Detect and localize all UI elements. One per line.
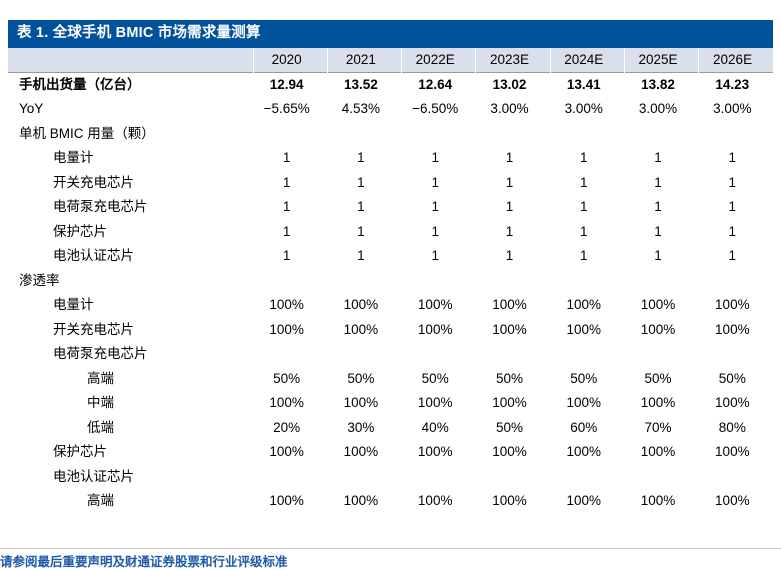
cell-value: 70% xyxy=(624,416,698,441)
cell-value: 1 xyxy=(327,244,401,269)
cell-value: 1 xyxy=(253,171,327,196)
cell-value: 100% xyxy=(327,293,401,318)
cell-value: 1 xyxy=(327,146,401,171)
cell-value: 20% xyxy=(253,416,327,441)
row-label: 电荷泵充电芯片 xyxy=(8,195,253,220)
cell-value xyxy=(476,342,550,367)
cell-value: 50% xyxy=(476,416,550,441)
cell-value: 1 xyxy=(253,220,327,245)
cell-value: 1 xyxy=(699,146,773,171)
table-row: 电池认证芯片1111111 xyxy=(8,244,773,269)
footer-divider xyxy=(0,548,781,549)
table-row: 单机 BMIC 用量（颗） xyxy=(8,122,773,147)
cell-value: 100% xyxy=(253,489,327,514)
row-label: 开关充电芯片 xyxy=(8,318,253,343)
cell-value xyxy=(253,465,327,490)
cell-value: 50% xyxy=(476,367,550,392)
row-label: 高端 xyxy=(8,367,253,392)
table-row: YoY−5.65%4.53%−6.50%3.00%3.00%3.00%3.00% xyxy=(8,97,773,122)
cell-value: 100% xyxy=(624,391,698,416)
cell-value: 3.00% xyxy=(476,97,550,122)
cell-value: 4.53% xyxy=(327,97,401,122)
cell-value: 100% xyxy=(476,489,550,514)
row-label: 高端 xyxy=(8,489,253,514)
cell-value: 100% xyxy=(402,489,476,514)
row-label: 电量计 xyxy=(8,146,253,171)
cell-value: 1 xyxy=(699,195,773,220)
cell-value: 1 xyxy=(624,220,698,245)
cell-value: 1 xyxy=(327,171,401,196)
cell-value: 100% xyxy=(550,489,624,514)
cell-value xyxy=(253,122,327,147)
cell-value: 80% xyxy=(699,416,773,441)
table-row: 高端50%50%50%50%50%50%50% xyxy=(8,367,773,392)
cell-value xyxy=(550,269,624,294)
cell-value: 1 xyxy=(550,146,624,171)
cell-value xyxy=(476,465,550,490)
row-label: 中端 xyxy=(8,391,253,416)
table-row: 开关充电芯片1111111 xyxy=(8,171,773,196)
column-header-label xyxy=(8,48,253,73)
cell-value: −6.50% xyxy=(402,97,476,122)
cell-value: 1 xyxy=(402,244,476,269)
row-label: 低端 xyxy=(8,416,253,441)
row-label: 电量计 xyxy=(8,293,253,318)
table-row: 高端100%100%100%100%100%100%100% xyxy=(8,489,773,514)
table-row: 保护芯片1111111 xyxy=(8,220,773,245)
cell-value xyxy=(253,342,327,367)
cell-value: 40% xyxy=(402,416,476,441)
cell-value: 1 xyxy=(476,195,550,220)
cell-value: −5.65% xyxy=(253,97,327,122)
cell-value: 50% xyxy=(327,367,401,392)
cell-value: 50% xyxy=(253,367,327,392)
cell-value xyxy=(699,342,773,367)
table-row: 渗透率 xyxy=(8,269,773,294)
cell-value: 13.41 xyxy=(550,72,624,97)
cell-value: 3.00% xyxy=(624,97,698,122)
cell-value: 1 xyxy=(624,244,698,269)
cell-value: 1 xyxy=(253,146,327,171)
row-label: 渗透率 xyxy=(8,269,253,294)
column-header-2021: 2021 xyxy=(327,48,401,73)
cell-value: 100% xyxy=(699,391,773,416)
cell-value: 50% xyxy=(402,367,476,392)
cell-value xyxy=(550,122,624,147)
cell-value: 14.23 xyxy=(699,72,773,97)
cell-value xyxy=(550,342,624,367)
cell-value: 100% xyxy=(550,318,624,343)
cell-value: 100% xyxy=(476,391,550,416)
column-header-2025e: 2025E xyxy=(624,48,698,73)
table-row: 电池认证芯片 xyxy=(8,465,773,490)
cell-value: 1 xyxy=(550,195,624,220)
cell-value xyxy=(624,342,698,367)
cell-value: 100% xyxy=(476,293,550,318)
cell-value: 100% xyxy=(624,440,698,465)
cell-value: 1 xyxy=(699,244,773,269)
cell-value: 3.00% xyxy=(550,97,624,122)
table-row: 电量计100%100%100%100%100%100%100% xyxy=(8,293,773,318)
cell-value: 100% xyxy=(327,391,401,416)
cell-value: 60% xyxy=(550,416,624,441)
cell-value xyxy=(327,342,401,367)
cell-value: 12.64 xyxy=(402,72,476,97)
column-header-2022e: 2022E xyxy=(402,48,476,73)
table-row: 电荷泵充电芯片1111111 xyxy=(8,195,773,220)
cell-value: 1 xyxy=(253,244,327,269)
cell-value: 30% xyxy=(327,416,401,441)
cell-value: 100% xyxy=(327,440,401,465)
cell-value: 100% xyxy=(699,318,773,343)
row-label: 开关充电芯片 xyxy=(8,171,253,196)
cell-value: 1 xyxy=(402,146,476,171)
table-container: 表 1. 全球手机 BMIC 市场需求量测算 2020 2021 2022E 2… xyxy=(8,20,773,514)
cell-value: 1 xyxy=(327,195,401,220)
row-label: 电池认证芯片 xyxy=(8,465,253,490)
cell-value: 1 xyxy=(624,146,698,171)
cell-value xyxy=(253,269,327,294)
cell-value: 1 xyxy=(402,171,476,196)
cell-value: 100% xyxy=(253,391,327,416)
cell-value xyxy=(476,269,550,294)
cell-value xyxy=(327,465,401,490)
cell-value: 100% xyxy=(624,489,698,514)
cell-value: 1 xyxy=(327,220,401,245)
cell-value: 100% xyxy=(699,293,773,318)
table-row: 电量计1111111 xyxy=(8,146,773,171)
cell-value: 100% xyxy=(476,440,550,465)
cell-value: 1 xyxy=(402,220,476,245)
cell-value: 100% xyxy=(327,489,401,514)
cell-value: 100% xyxy=(624,318,698,343)
data-table: 2020 2021 2022E 2023E 2024E 2025E 2026E … xyxy=(8,48,773,514)
cell-value: 100% xyxy=(699,440,773,465)
row-label: 单机 BMIC 用量（颗） xyxy=(8,122,253,147)
table-row: 开关充电芯片100%100%100%100%100%100%100% xyxy=(8,318,773,343)
cell-value: 100% xyxy=(402,391,476,416)
table-row: 低端20%30%40%50%60%70%80% xyxy=(8,416,773,441)
cell-value: 1 xyxy=(476,171,550,196)
row-label: 电池认证芯片 xyxy=(8,244,253,269)
cell-value: 1 xyxy=(476,146,550,171)
column-header-2024e: 2024E xyxy=(550,48,624,73)
cell-value: 100% xyxy=(624,293,698,318)
row-label: 手机出货量（亿台） xyxy=(8,72,253,97)
cell-value xyxy=(624,269,698,294)
header-row: 2020 2021 2022E 2023E 2024E 2025E 2026E xyxy=(8,48,773,73)
cell-value: 50% xyxy=(699,367,773,392)
column-header-2023e: 2023E xyxy=(476,48,550,73)
cell-value: 100% xyxy=(253,293,327,318)
cell-value: 1 xyxy=(476,220,550,245)
table-row: 中端100%100%100%100%100%100%100% xyxy=(8,391,773,416)
cell-value xyxy=(699,122,773,147)
table-row: 手机出货量（亿台）12.9413.5212.6413.0213.4113.821… xyxy=(8,72,773,97)
cell-value xyxy=(402,342,476,367)
cell-value: 1 xyxy=(253,195,327,220)
cell-value xyxy=(402,465,476,490)
footer-disclaimer: 请参阅最后重要声明及财通证券股票和行业评级标准 xyxy=(0,551,781,570)
column-header-2026e: 2026E xyxy=(699,48,773,73)
cell-value xyxy=(402,122,476,147)
cell-value: 100% xyxy=(550,391,624,416)
row-label: 保护芯片 xyxy=(8,220,253,245)
cell-value: 1 xyxy=(699,171,773,196)
cell-value: 1 xyxy=(476,244,550,269)
cell-value: 100% xyxy=(402,318,476,343)
cell-value: 100% xyxy=(327,318,401,343)
table-row: 保护芯片100%100%100%100%100%100%100% xyxy=(8,440,773,465)
cell-value: 13.02 xyxy=(476,72,550,97)
table-body: 手机出货量（亿台）12.9413.5212.6413.0213.4113.821… xyxy=(8,72,773,514)
cell-value: 100% xyxy=(476,318,550,343)
cell-value: 100% xyxy=(550,440,624,465)
cell-value: 1 xyxy=(550,220,624,245)
cell-value: 50% xyxy=(550,367,624,392)
table-title: 表 1. 全球手机 BMIC 市场需求量测算 xyxy=(8,20,773,48)
cell-value xyxy=(699,465,773,490)
cell-value: 3.00% xyxy=(699,97,773,122)
cell-value: 1 xyxy=(550,244,624,269)
cell-value: 50% xyxy=(624,367,698,392)
row-label: 保护芯片 xyxy=(8,440,253,465)
cell-value xyxy=(402,269,476,294)
cell-value: 13.52 xyxy=(327,72,401,97)
cell-value xyxy=(327,269,401,294)
column-header-2020: 2020 xyxy=(253,48,327,73)
cell-value: 100% xyxy=(402,440,476,465)
cell-value xyxy=(550,465,624,490)
cell-value xyxy=(624,465,698,490)
cell-value: 100% xyxy=(402,293,476,318)
cell-value: 1 xyxy=(699,220,773,245)
cell-value: 13.82 xyxy=(624,72,698,97)
cell-value: 1 xyxy=(624,195,698,220)
cell-value: 100% xyxy=(699,489,773,514)
cell-value: 1 xyxy=(402,195,476,220)
row-label: 电荷泵充电芯片 xyxy=(8,342,253,367)
cell-value: 100% xyxy=(253,440,327,465)
cell-value xyxy=(327,122,401,147)
cell-value: 1 xyxy=(624,171,698,196)
cell-value: 1 xyxy=(550,171,624,196)
table-header: 2020 2021 2022E 2023E 2024E 2025E 2026E xyxy=(8,48,773,73)
row-label: YoY xyxy=(8,97,253,122)
cell-value xyxy=(476,122,550,147)
cell-value xyxy=(624,122,698,147)
cell-value: 12.94 xyxy=(253,72,327,97)
table-row: 电荷泵充电芯片 xyxy=(8,342,773,367)
cell-value: 100% xyxy=(550,293,624,318)
cell-value xyxy=(699,269,773,294)
cell-value: 100% xyxy=(253,318,327,343)
